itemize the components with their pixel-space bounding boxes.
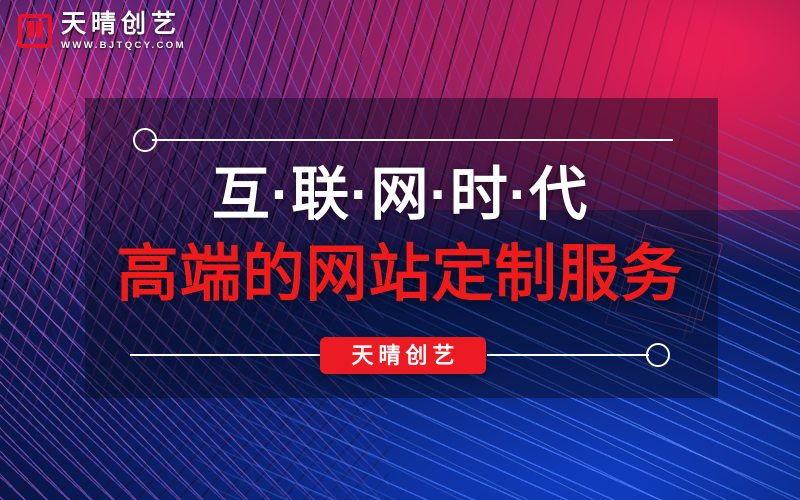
- bottom-divider-rule-right: [487, 354, 649, 356]
- bottom-divider-rule-left: [130, 354, 320, 356]
- brand-logo-text: 天晴创艺 WWW.BJTQCY.COM: [61, 12, 186, 51]
- tianqing-square-logo-icon: [18, 14, 52, 48]
- top-divider-rule: [152, 139, 673, 141]
- brand-website: WWW.BJTQCY.COM: [61, 41, 186, 51]
- brand-name: 天晴创艺: [61, 12, 186, 37]
- brand-badge-label: 天晴创艺: [346, 345, 459, 367]
- promo-banner: 天晴创艺 WWW.BJTQCY.COM 互·联·网·时·代 高端的网站定制服务 …: [0, 0, 800, 500]
- headline: 互·联·网·时·代: [0, 166, 800, 224]
- subheadline: 高端的网站定制服务: [0, 244, 800, 306]
- circle-outline-icon: [646, 343, 670, 367]
- brand-logo[interactable]: 天晴创艺 WWW.BJTQCY.COM: [18, 12, 186, 51]
- brand-badge[interactable]: 天晴创艺: [320, 337, 486, 374]
